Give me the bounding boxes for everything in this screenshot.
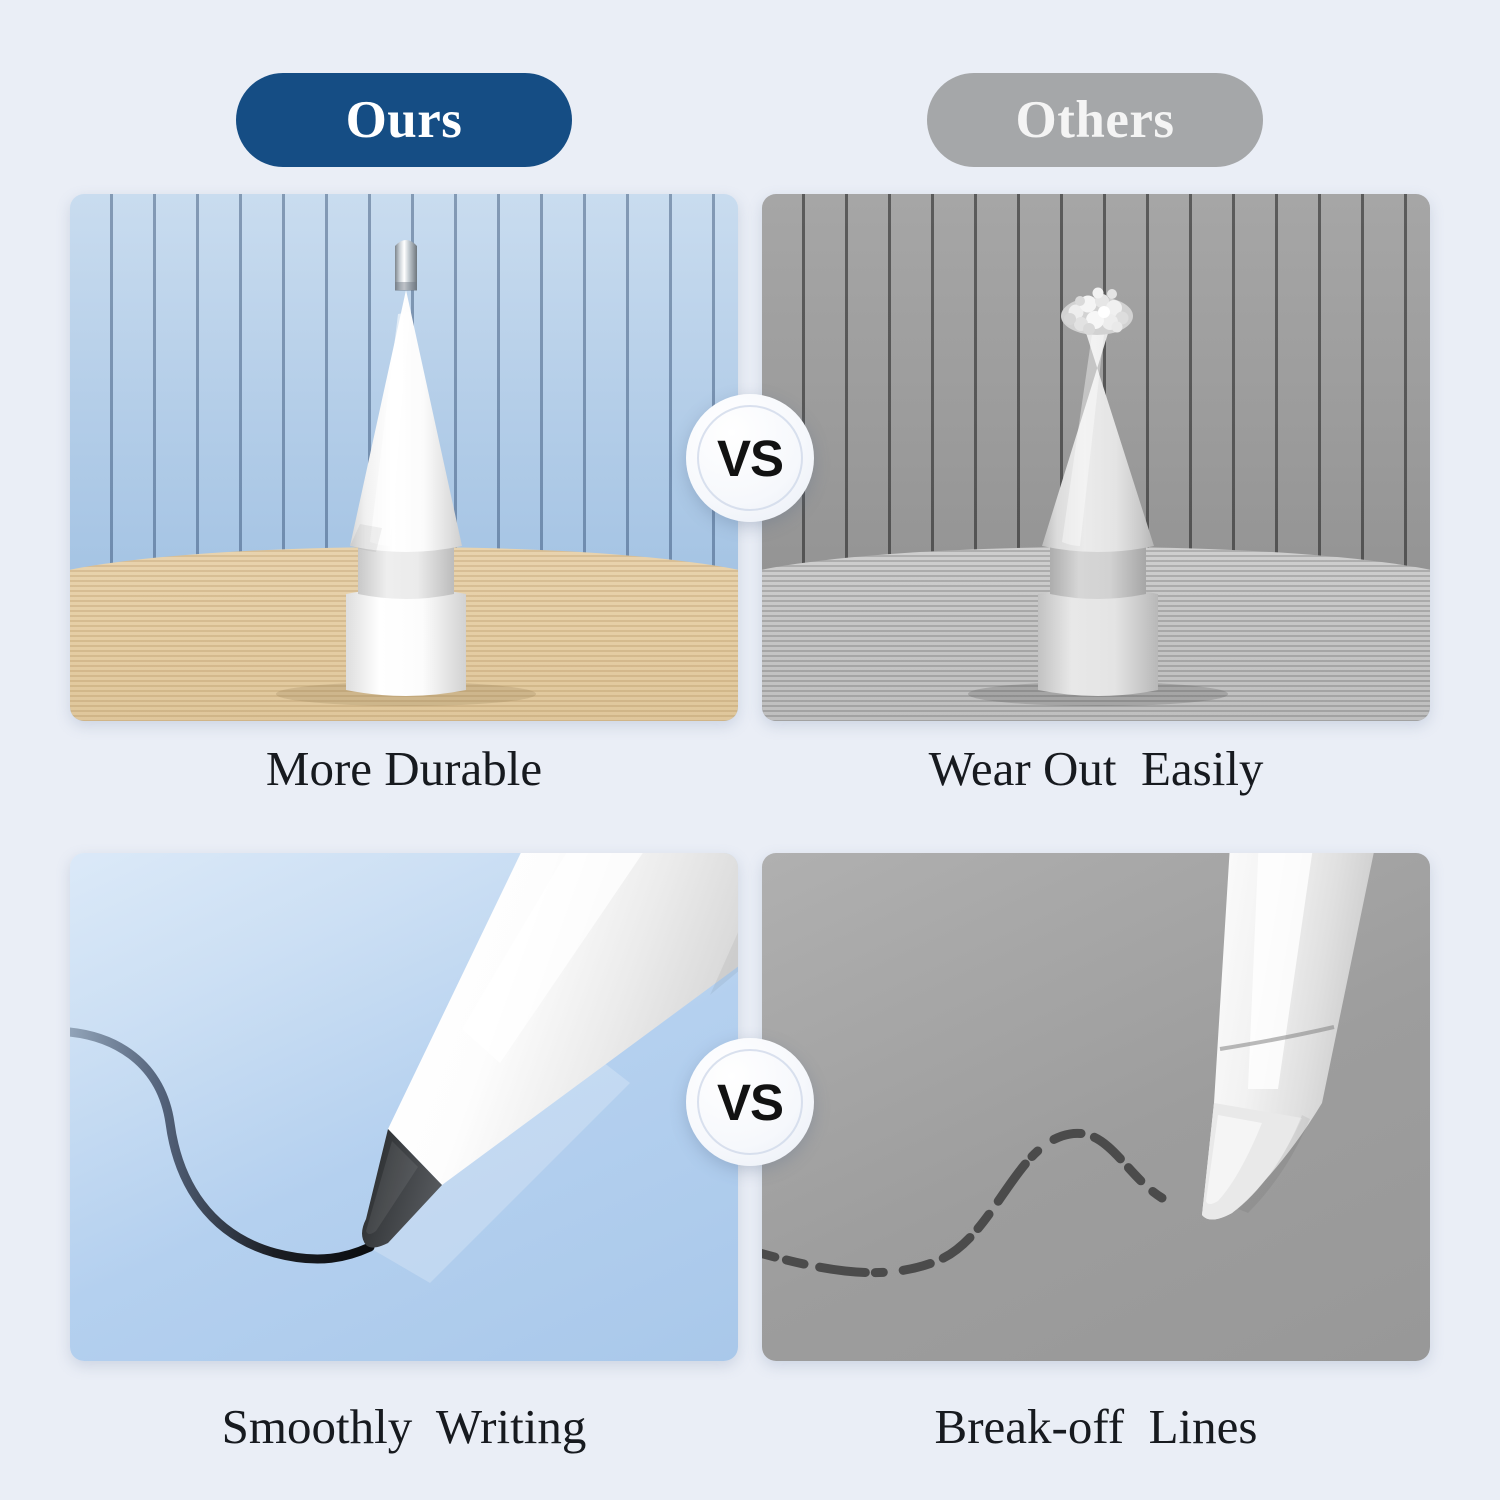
- caption-break-off-lines: Break-off Lines: [762, 1398, 1430, 1455]
- caption-more-durable: More Durable: [70, 740, 738, 797]
- panel-ours-durability: [70, 194, 738, 721]
- ours-badge: Ours: [236, 73, 572, 167]
- ours-nib-illustration: [70, 194, 738, 721]
- vs-badge-top-label: VS: [717, 429, 783, 488]
- ours-stylus-illustration: [70, 853, 738, 1361]
- others-worn-nib-illustration: [762, 194, 1430, 721]
- vs-badge-bottom: VS: [686, 1038, 814, 1166]
- caption-wear-out-easily: Wear Out Easily: [762, 740, 1430, 797]
- caption-smoothly-writing: Smoothly Writing: [70, 1398, 738, 1455]
- comparison-page: Ours Others: [0, 0, 1500, 1500]
- vs-badge-top: VS: [686, 394, 814, 522]
- others-stylus-illustration: [762, 853, 1430, 1361]
- panel-ours-writing: [70, 853, 738, 1361]
- panel-others-writing: [762, 853, 1430, 1361]
- others-badge: Others: [927, 73, 1263, 167]
- others-badge-label: Others: [1015, 90, 1174, 150]
- vs-badge-bottom-label: VS: [717, 1073, 783, 1132]
- broken-line: [762, 1133, 1162, 1272]
- panel-others-durability: [762, 194, 1430, 721]
- ours-badge-label: Ours: [346, 90, 463, 150]
- worn-tip-granules: [1061, 288, 1133, 336]
- smooth-line: [70, 1031, 370, 1259]
